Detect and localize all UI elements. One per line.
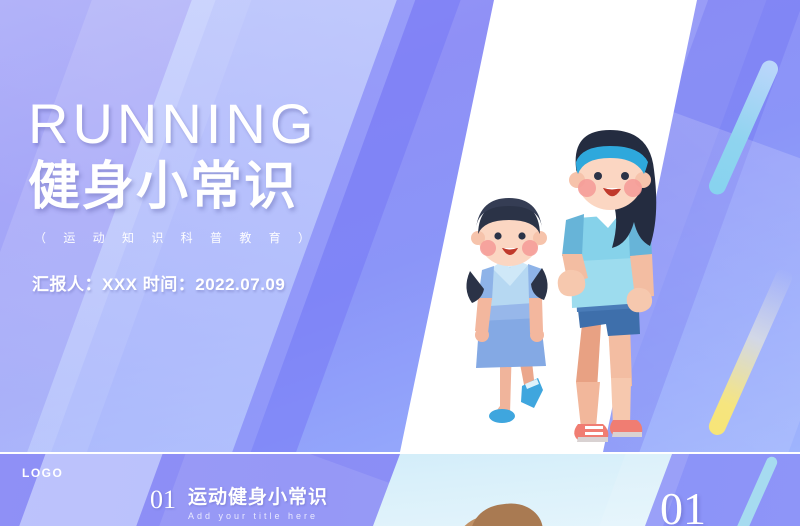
section-title-chinese: 运动健身小常识	[188, 487, 328, 508]
section-number: 01	[150, 487, 176, 513]
logo-placeholder[interactable]: LOGO	[22, 466, 63, 480]
section-title-english: Add your title here	[188, 511, 328, 521]
cyan-stripe-decoration	[706, 58, 781, 197]
girl-figure	[466, 198, 547, 423]
yellow-stripe-decoration	[706, 266, 795, 437]
presenter-and-date: 汇报人：XXX 时间：2022.07.09	[32, 270, 317, 295]
title-block: RUNNING 健身小常识 （ 运 动 知 识 科 普 教 育 ） 汇报人：XX…	[28, 96, 317, 295]
running-illustration	[430, 128, 710, 452]
woman-figure	[558, 130, 657, 442]
title-chinese: 健身小常识	[28, 160, 317, 215]
title-english: RUNNING	[28, 96, 317, 152]
section-big-number: 01	[660, 486, 706, 526]
section-title-group: 01 运动健身小常识 Add your title here	[150, 487, 328, 521]
photo-person-hair	[468, 500, 544, 526]
title-slide: RUNNING 健身小常识 （ 运 动 知 识 科 普 教 育 ） 汇报人：XX…	[0, 0, 800, 452]
presentation-canvas: RUNNING 健身小常识 （ 运 动 知 识 科 普 教 育 ） 汇报人：XX…	[0, 0, 800, 526]
s2-decorative-band-1	[0, 454, 163, 526]
title-subtitle: （ 运 动 知 识 科 普 教 育 ）	[34, 229, 317, 246]
